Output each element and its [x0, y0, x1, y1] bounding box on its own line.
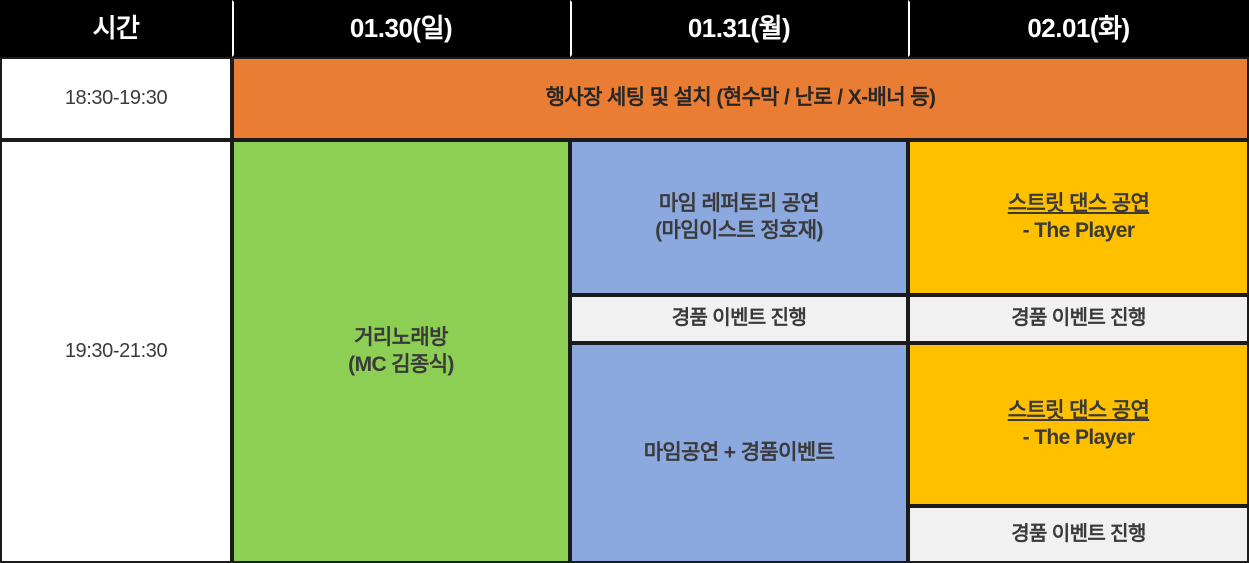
time-slot-2: 19:30-21:30 — [0, 140, 232, 563]
event-cell-setup-label: 행사장 세팅 및 설치 (현수막 / 난로 / X-배너 등) — [546, 85, 936, 112]
event-cell-prize-event-3[interactable]: 경품 이벤트 진행 — [908, 506, 1249, 563]
event-cell-street-karaoke-line2: (MC 김종식) — [348, 353, 454, 376]
schedule-table: 시간 01.30(일) 01.31(월) 02.01(화) 18:30-19:3… — [0, 0, 1249, 563]
event-cell-mime-plus-prize-label: 마임공연 + 경품이벤트 — [644, 440, 835, 467]
column-header-0201-label: 02.01(화) — [1027, 12, 1129, 45]
event-cell-street-dance-1-text: 스트릿 댄스 공연- The Player — [1008, 191, 1150, 245]
event-cell-street-dance-1[interactable]: 스트릿 댄스 공연- The Player — [908, 140, 1249, 295]
event-cell-prize-event-3-label: 경품 이벤트 진행 — [1011, 522, 1146, 548]
time-slot-1: 18:30-19:30 — [0, 57, 232, 140]
column-header-time: 시간 — [0, 0, 232, 57]
event-cell-prize-event-1-label: 경품 이벤트 진행 — [672, 306, 807, 332]
event-cell-mime-repertory-line2: (마임이스트 정호재) — [655, 219, 823, 242]
event-cell-street-karaoke-line1: 거리노래방 — [354, 326, 448, 349]
event-cell-prize-event-2[interactable]: 경품 이벤트 진행 — [908, 295, 1249, 343]
event-cell-street-dance-2[interactable]: 스트릿 댄스 공연- The Player — [908, 343, 1249, 506]
event-cell-prize-event-1[interactable]: 경품 이벤트 진행 — [570, 295, 908, 343]
column-header-0130-label: 01.30(일) — [350, 12, 452, 45]
event-cell-street-karaoke-text: 거리노래방(MC 김종식) — [348, 325, 454, 379]
event-cell-street-dance-2-line2: - The Player — [1023, 426, 1135, 449]
column-header-0201: 02.01(화) — [908, 0, 1249, 57]
event-cell-street-dance-1-line2: - The Player — [1023, 219, 1135, 242]
column-header-0131-label: 01.31(월) — [688, 12, 790, 45]
event-cell-setup[interactable]: 행사장 세팅 및 설치 (현수막 / 난로 / X-배너 등) — [232, 57, 1249, 140]
time-slot-2-label: 19:30-21:30 — [65, 339, 167, 365]
column-header-time-label: 시간 — [93, 12, 140, 45]
event-cell-street-dance-2-text: 스트릿 댄스 공연- The Player — [1008, 398, 1150, 452]
time-slot-1-label: 18:30-19:30 — [65, 86, 167, 112]
event-cell-mime-plus-prize[interactable]: 마임공연 + 경품이벤트 — [570, 343, 908, 563]
event-cell-street-dance-1-line1: 스트릿 댄스 공연 — [1008, 192, 1150, 215]
event-cell-street-karaoke[interactable]: 거리노래방(MC 김종식) — [232, 140, 570, 563]
event-cell-mime-repertory[interactable]: 마임 레퍼토리 공연(마임이스트 정호재) — [570, 140, 908, 295]
event-cell-mime-repertory-line1: 마임 레퍼토리 공연 — [659, 192, 819, 215]
event-cell-street-dance-2-line1: 스트릿 댄스 공연 — [1008, 399, 1150, 422]
column-header-0131: 01.31(월) — [570, 0, 908, 57]
event-cell-mime-repertory-text: 마임 레퍼토리 공연(마임이스트 정호재) — [655, 191, 823, 245]
column-header-0130: 01.30(일) — [232, 0, 570, 57]
event-cell-prize-event-2-label: 경품 이벤트 진행 — [1011, 306, 1146, 332]
